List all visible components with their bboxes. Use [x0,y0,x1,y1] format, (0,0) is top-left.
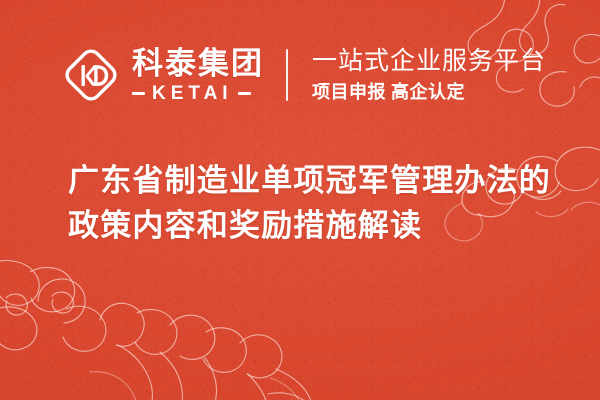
tagline-sub: 项目申报 高企认定 [312,80,546,104]
banner-title: 广东省制造业单项冠军管理办法的 政策内容和奖励措施解读 [68,158,568,248]
company-name-en-row: KETAI [132,84,264,104]
header-vertical-divider [286,49,288,101]
promo-banner: 科泰集团 KETAI 一站式企业服务平台 项目申报 高企认定 广东省制造业单项冠… [0,0,600,400]
title-line-1: 广东省制造业单项冠军管理办法的 [68,158,568,203]
tagline-main: 一站式企业服务平台 [312,46,546,76]
tagline-block: 一站式企业服务平台 项目申报 高企认定 [312,46,546,104]
company-name-cn: 科泰集团 [132,47,264,81]
company-name-en: KETAI [145,84,238,104]
title-line-2: 政策内容和奖励措施解读 [68,203,568,248]
wordmark-rule-left [132,92,145,95]
ketai-diamond-kd-logo-icon [62,46,120,104]
logo-wordmark: 科泰集团 KETAI [132,47,264,104]
banner-header: 科泰集团 KETAI 一站式企业服务平台 项目申报 高企认定 [0,36,600,114]
wordmark-rule-right [238,92,251,95]
